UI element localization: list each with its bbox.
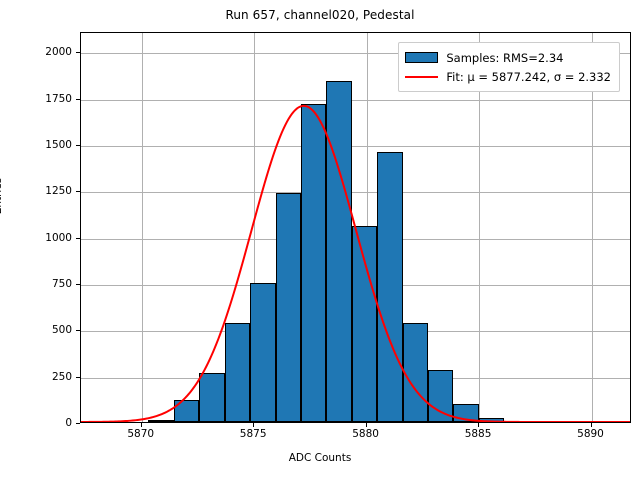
chart-legend: Samples: RMS=2.34 Fit: μ = 5877.242, σ =… bbox=[398, 42, 620, 92]
x-tick-label: 5880 bbox=[331, 428, 401, 440]
x-tick-mark bbox=[253, 423, 254, 427]
x-tick-mark bbox=[366, 423, 367, 427]
y-tick-mark bbox=[76, 99, 80, 100]
legend-entry-fit: Fit: μ = 5877.242, σ = 2.332 bbox=[405, 67, 611, 86]
plot-area: Samples: RMS=2.34 Fit: μ = 5877.242, σ =… bbox=[80, 32, 631, 423]
x-tick-label: 5875 bbox=[218, 428, 288, 440]
y-tick-mark bbox=[76, 191, 80, 192]
x-tick-label: 5885 bbox=[443, 428, 513, 440]
histogram-figure: Run 657, channel020, Pedestal Entries AD… bbox=[0, 0, 640, 480]
y-tick-label: 0 bbox=[2, 417, 72, 429]
legend-patch-icon bbox=[405, 52, 438, 63]
y-tick-mark bbox=[76, 284, 80, 285]
x-tick-mark bbox=[478, 423, 479, 427]
y-tick-mark bbox=[76, 377, 80, 378]
legend-line-icon bbox=[405, 71, 438, 82]
y-tick-label: 1750 bbox=[2, 93, 72, 105]
y-tick-label: 250 bbox=[2, 371, 72, 383]
y-tick-mark bbox=[76, 330, 80, 331]
y-tick-label: 2000 bbox=[2, 46, 72, 58]
x-tick-mark bbox=[141, 423, 142, 427]
y-tick-mark bbox=[76, 145, 80, 146]
y-tick-label: 500 bbox=[2, 324, 72, 336]
chart-title: Run 657, channel020, Pedestal bbox=[0, 8, 640, 22]
y-tick-label: 1500 bbox=[2, 139, 72, 151]
x-tick-label: 5890 bbox=[556, 428, 626, 440]
y-tick-mark bbox=[76, 238, 80, 239]
y-tick-mark bbox=[76, 423, 80, 424]
fit-curve-path bbox=[81, 106, 630, 422]
x-tick-mark bbox=[591, 423, 592, 427]
y-tick-label: 750 bbox=[2, 278, 72, 290]
legend-entry-samples: Samples: RMS=2.34 bbox=[405, 48, 611, 67]
y-tick-label: 1000 bbox=[2, 232, 72, 244]
x-tick-label: 5870 bbox=[106, 428, 176, 440]
x-axis-label: ADC Counts bbox=[0, 452, 640, 464]
y-tick-mark bbox=[76, 52, 80, 53]
y-tick-label: 1250 bbox=[2, 185, 72, 197]
legend-label-fit: Fit: μ = 5877.242, σ = 2.332 bbox=[446, 70, 611, 84]
legend-label-samples: Samples: RMS=2.34 bbox=[446, 51, 563, 65]
